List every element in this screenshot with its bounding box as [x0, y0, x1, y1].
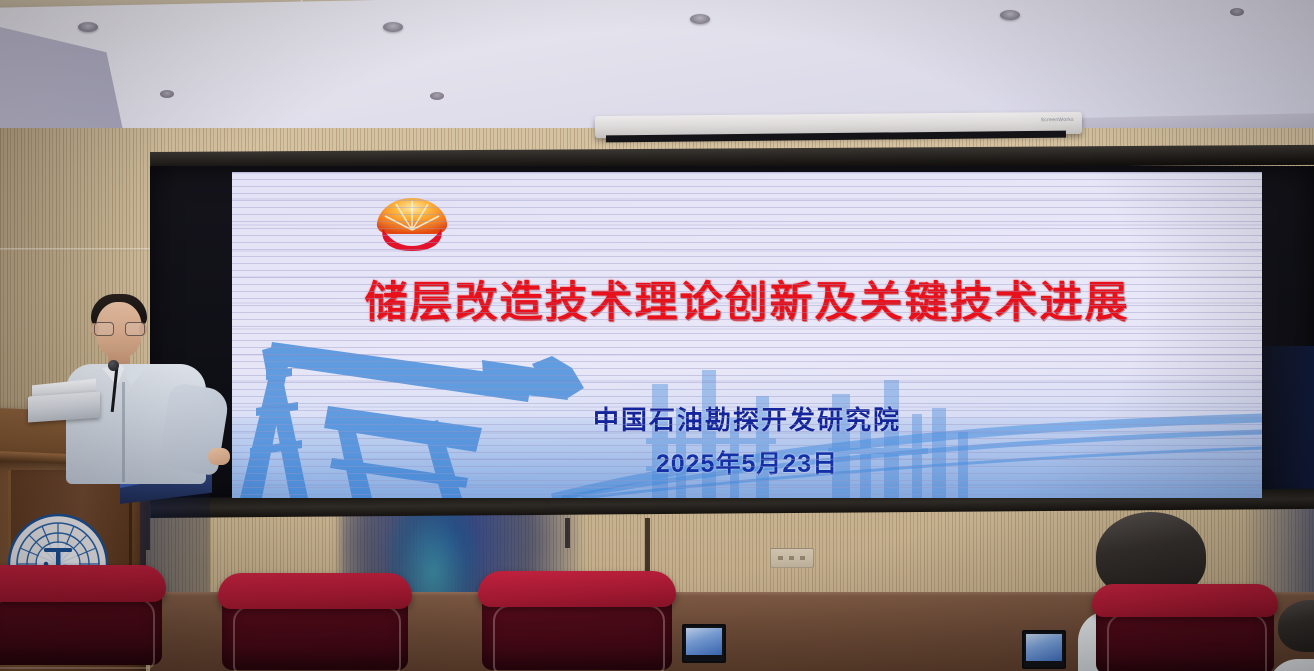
- auditorium-scene: ScreenWorks: [0, 0, 1314, 671]
- slide-organization: 中国石油勘探开发研究院: [232, 400, 1262, 437]
- seat-back-right[interactable]: [1096, 588, 1274, 671]
- wall-outlet-plate: [770, 548, 814, 568]
- seat-crown: [218, 573, 411, 608]
- ceiling-downlight-icon: [690, 14, 710, 24]
- ceiling-downlight-icon: [78, 22, 98, 32]
- seat-front-center-left[interactable]: [192, 638, 408, 671]
- ceiling-sprinkler-icon: [430, 92, 444, 100]
- glasses-icon: [94, 322, 144, 334]
- audience-member: [1278, 600, 1314, 671]
- seat-crown: [478, 571, 676, 607]
- seat-piping: [1107, 614, 1268, 671]
- ceiling-sprinkler-icon: [1230, 8, 1244, 16]
- seat-crown: [0, 565, 166, 602]
- desk-monitor[interactable]: [682, 624, 726, 663]
- slide-date: 2025年5月23日: [232, 444, 1262, 480]
- audience-hair: [1278, 600, 1314, 652]
- petrochina-logo-icon: [372, 194, 452, 256]
- seat-crown: [1092, 584, 1277, 617]
- laptop[interactable]: [28, 391, 100, 422]
- presentation-slide[interactable]: 储层改造技术理论创新及关键技术进展 中国石油勘探开发研究院 2025年5月23日: [232, 172, 1262, 498]
- presenter-hand: [208, 448, 230, 465]
- ceiling-sprinkler-icon: [160, 90, 174, 98]
- microphone-icon[interactable]: [108, 360, 119, 371]
- presenter-shirt-placket: [122, 382, 125, 482]
- cassette-brand-label: ScreenWorks: [1041, 117, 1074, 123]
- seat-front-left[interactable]: [0, 632, 180, 671]
- seat-front-center[interactable]: [450, 636, 670, 671]
- desk-monitor[interactable]: [1022, 630, 1066, 669]
- ceiling-downlight-icon: [1000, 10, 1020, 20]
- slide-title: 储层改造技术理论创新及关键技术进展: [232, 268, 1262, 330]
- ceiling-downlight-icon: [383, 22, 403, 32]
